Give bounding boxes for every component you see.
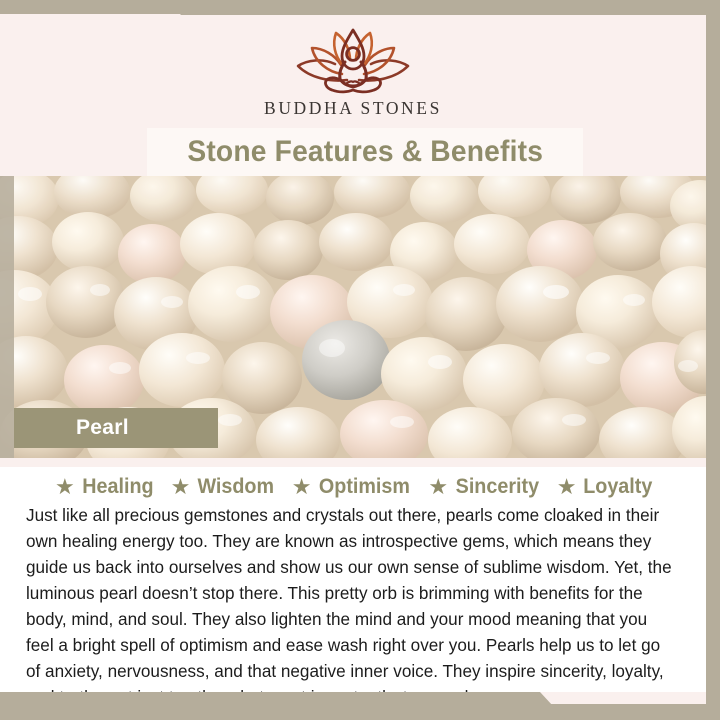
attribute-sincerity: ★ Sincerity	[428, 475, 541, 499]
title-banner: Stone Features & Benefits	[147, 128, 583, 176]
star-icon: ★	[171, 476, 191, 498]
stone-name: Pearl	[14, 416, 129, 440]
frame-band-top	[0, 0, 720, 15]
lotus-meditation-icon	[290, 24, 416, 96]
attribute-loyalty: ★ Loyalty	[557, 475, 655, 499]
attributes-row: ★ Healing ★ Wisdom ★ Optimism ★ Sincerit…	[55, 475, 655, 499]
star-icon: ★	[557, 476, 577, 498]
stone-features-poster: BUDDHA STONES Stone Features & Benefits	[0, 0, 720, 720]
star-icon: ★	[292, 476, 312, 498]
attribute-healing: ★ Healing	[55, 475, 156, 499]
star-icon: ★	[55, 476, 75, 498]
stone-name-bar: Pearl	[14, 408, 218, 448]
attribute-label: Sincerity	[456, 475, 539, 499]
attribute-label: Optimism	[319, 475, 410, 499]
content-panel: ★ Healing ★ Wisdom ★ Optimism ★ Sincerit…	[0, 467, 706, 692]
brand-logo: BUDDHA STONES	[0, 14, 706, 124]
divider-strip	[0, 458, 706, 467]
page-title: Stone Features & Benefits	[187, 135, 543, 169]
frame-band-right	[706, 0, 720, 622]
description-text: Just like all precious gemstones and cry…	[26, 502, 674, 710]
attribute-label: Wisdom	[198, 475, 275, 499]
frame-band-left	[0, 176, 14, 458]
star-icon: ★	[428, 476, 448, 498]
attribute-optimism: ★ Optimism	[292, 475, 414, 499]
brand-name: BUDDHA STONES	[264, 98, 442, 119]
attribute-label: Healing	[82, 475, 153, 499]
attribute-wisdom: ★ Wisdom	[171, 475, 277, 499]
attribute-label: Loyalty	[584, 475, 653, 499]
